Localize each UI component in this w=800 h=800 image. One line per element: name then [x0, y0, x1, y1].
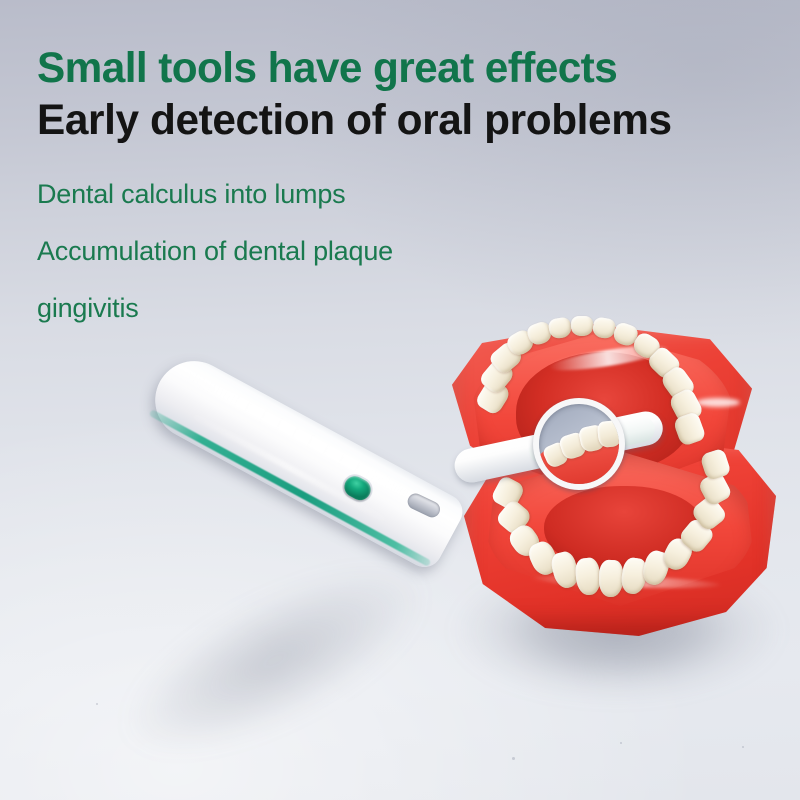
headline-secondary: Early detection of oral problems: [37, 94, 672, 147]
acrylic-gloss-highlight: [696, 398, 740, 407]
symptom-list: Dental calculus into lumps Accumulation …: [37, 166, 681, 337]
dental-arch-typodont-model: [452, 318, 800, 638]
symptom-item-3: gingivitis: [37, 280, 681, 337]
symptom-item-2: Accumulation of dental plaque: [37, 223, 681, 280]
led-dental-mirror-handle[interactable]: [141, 347, 468, 573]
reflected-teeth-in-mirror: [539, 404, 619, 484]
backdrop-speck: [620, 742, 622, 744]
dental-mirror-head: [533, 398, 625, 490]
banner-copy: Small tools have great effects Early det…: [37, 42, 681, 337]
backdrop-speck: [742, 746, 744, 748]
product-banner: Small tools have great effects Early det…: [0, 0, 800, 800]
reflected-tooth: [597, 420, 619, 448]
symptom-item-1: Dental calculus into lumps: [37, 166, 681, 223]
headline-primary: Small tools have great effects: [37, 42, 672, 94]
backdrop-speck: [96, 703, 98, 705]
backdrop-speck: [512, 757, 515, 760]
tool-contact-shadow: [101, 532, 450, 789]
